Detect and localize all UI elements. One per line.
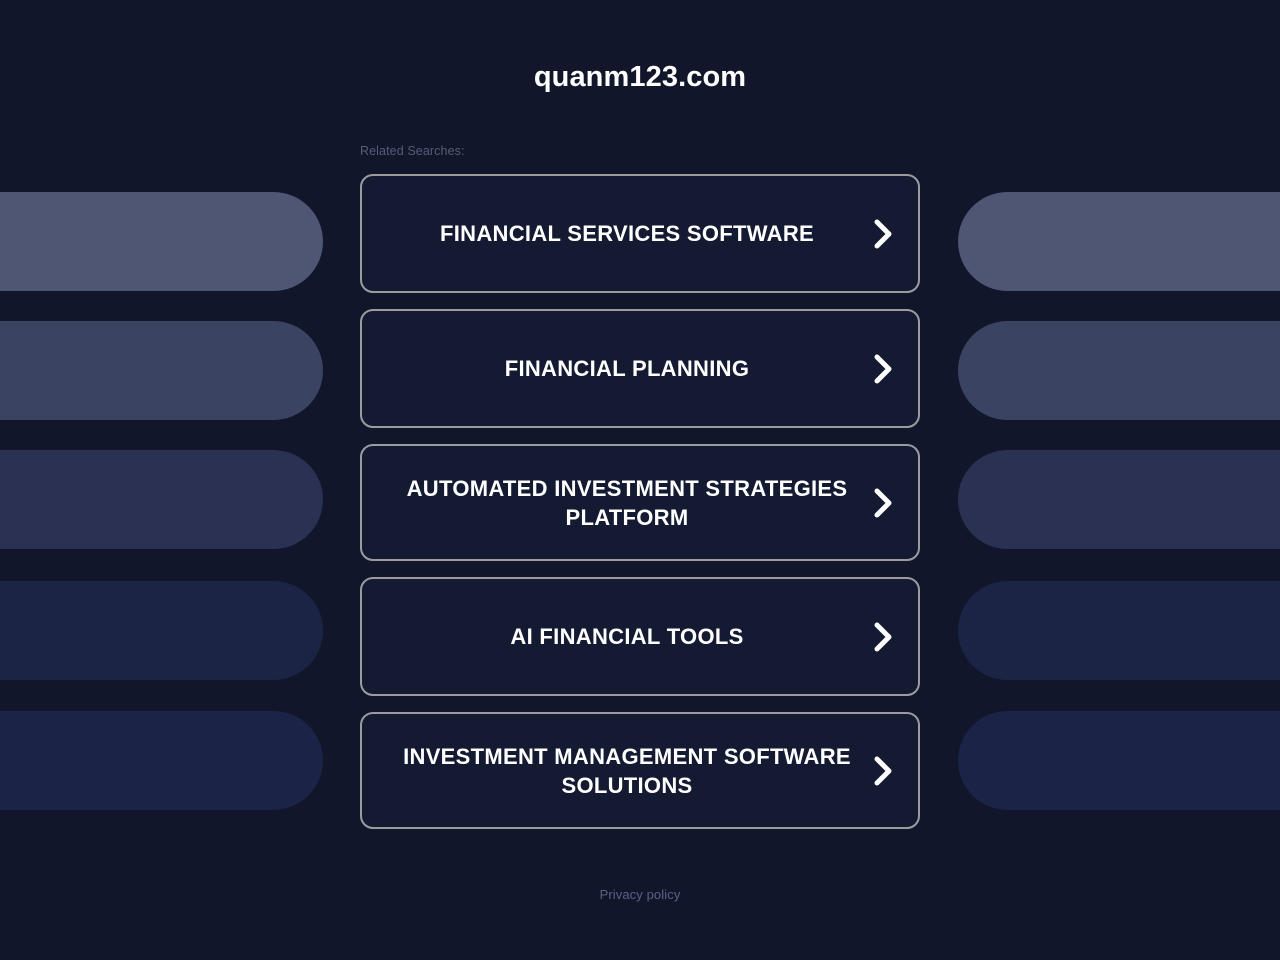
chevron-right-icon <box>872 622 894 652</box>
related-search-card[interactable]: FINANCIAL SERVICES SOFTWARE <box>360 174 920 293</box>
chevron-right-icon <box>872 756 894 786</box>
parked-domain-page: quanm123.com Related Searches: FINANCIAL… <box>0 0 1280 960</box>
related-searches-label: Related Searches: <box>360 143 465 159</box>
chevron-right-icon <box>872 219 894 249</box>
related-searches-list: FINANCIAL SERVICES SOFTWAREFINANCIAL PLA… <box>360 174 920 845</box>
chevron-right-icon <box>872 354 894 384</box>
related-search-label: AI FINANCIAL TOOLS <box>510 622 743 651</box>
privacy-policy-link[interactable]: Privacy policy <box>0 886 1280 903</box>
related-search-card[interactable]: FINANCIAL PLANNING <box>360 309 920 428</box>
related-search-card[interactable]: INVESTMENT MANAGEMENT SOFTWARE SOLUTIONS <box>360 712 920 829</box>
page-title: quanm123.com <box>0 58 1280 96</box>
related-search-label: FINANCIAL SERVICES SOFTWARE <box>440 219 814 248</box>
related-search-label: INVESTMENT MANAGEMENT SOFTWARE SOLUTIONS <box>392 742 862 800</box>
chevron-right-icon <box>872 488 894 518</box>
related-search-label: FINANCIAL PLANNING <box>505 354 750 383</box>
related-search-card[interactable]: AI FINANCIAL TOOLS <box>360 577 920 696</box>
related-search-card[interactable]: AUTOMATED INVESTMENT STRATEGIES PLATFORM <box>360 444 920 561</box>
related-search-label: AUTOMATED INVESTMENT STRATEGIES PLATFORM <box>392 474 862 532</box>
